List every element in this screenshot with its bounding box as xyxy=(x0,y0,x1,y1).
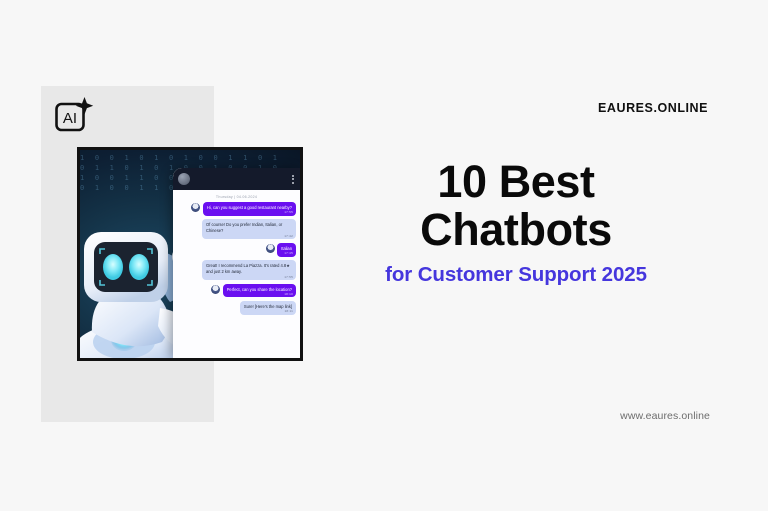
brand-label: EAURES.ONLINE xyxy=(598,101,708,115)
chat-message-row: Great! I recommend La Piazza. It's rated… xyxy=(177,260,296,280)
message-avatar xyxy=(211,285,220,294)
chat-bubble-bot: Great! I recommend La Piazza. It's rated… xyxy=(202,260,296,280)
chat-bubble-time: 17:55 xyxy=(284,275,293,279)
chat-message-row: Sure! [Here's the map link] 18:11 xyxy=(177,301,296,315)
message-avatar xyxy=(266,244,275,253)
chat-bubble-user: Perfect, can you share the location? 18:… xyxy=(223,284,296,298)
chat-panel-header xyxy=(173,168,300,190)
chat-bubble-time: 17:45 xyxy=(284,251,293,255)
page-subtitle: for Customer Support 2025 xyxy=(322,263,710,287)
chat-date-separator: Thursday | 04.06.2024 xyxy=(177,195,296,199)
page-title-line-1: 10 Best xyxy=(322,158,710,206)
site-url: www.eaures.online xyxy=(620,410,710,422)
chat-bubble-text: Perfect, can you share the location? xyxy=(227,287,292,293)
chat-bubble-user: Italian 17:45 xyxy=(277,243,296,257)
chat-bubble-bot: Of course! Do you prefer Indian, Italian… xyxy=(202,219,296,239)
ai-logo-svg: AI xyxy=(53,93,97,135)
chat-message-list: Thursday | 04.06.2024 Hi, can you sugges… xyxy=(173,190,300,358)
chat-message-row: Perfect, can you share the location? 18:… xyxy=(177,284,296,298)
headline-block: 10 Best Chatbots for Customer Support 20… xyxy=(322,158,710,287)
chat-bubble-time: 18:10 xyxy=(284,292,293,296)
chat-illustration-inner: 1 0 0 1 0 1 0 1 0 0 1 1 0 1 0 1 1 0 1 0 … xyxy=(80,150,300,358)
page-title-line-2: Chatbots xyxy=(322,206,710,254)
chat-bubble-time: 17:55 xyxy=(284,210,293,214)
chat-bubble-text: Great! I recommend La Piazza. It's rated… xyxy=(206,263,292,275)
chat-illustration-card: 1 0 0 1 0 1 0 1 0 0 1 1 0 1 0 1 1 0 1 0 … xyxy=(77,147,303,361)
chat-message-row: Of course! Do you prefer Indian, Italian… xyxy=(177,219,296,239)
chat-conversation-panel: Thursday | 04.06.2024 Hi, can you sugges… xyxy=(173,168,300,358)
chat-bubble-text: Hi, can you suggest a good restaurant ne… xyxy=(207,205,292,211)
robot-eye-left xyxy=(103,254,123,280)
binary-row: 1 0 0 1 0 1 0 1 0 0 1 1 0 1 xyxy=(80,154,300,162)
chat-message-row: Hi, can you suggest a good restaurant ne… xyxy=(177,202,296,216)
robot-eye-right xyxy=(129,254,149,280)
chat-bubble-time: 17:42 xyxy=(284,234,293,238)
chat-bubble-time: 18:11 xyxy=(284,309,293,313)
ai-logo-text: AI xyxy=(63,110,77,127)
chat-bubble-bot: Sure! [Here's the map link] 18:11 xyxy=(240,301,296,315)
ai-logo-badge: AI xyxy=(53,93,97,135)
message-avatar xyxy=(191,203,200,212)
chat-contact-avatar xyxy=(178,173,190,185)
chat-overflow-menu-icon[interactable] xyxy=(292,175,295,184)
sparkle-star-icon xyxy=(76,97,93,114)
chat-bubble-user: Hi, can you suggest a good restaurant ne… xyxy=(203,202,296,216)
chat-bubble-text: Of course! Do you prefer Indian, Italian… xyxy=(206,222,292,234)
chat-message-row: Italian 17:45 xyxy=(177,243,296,257)
